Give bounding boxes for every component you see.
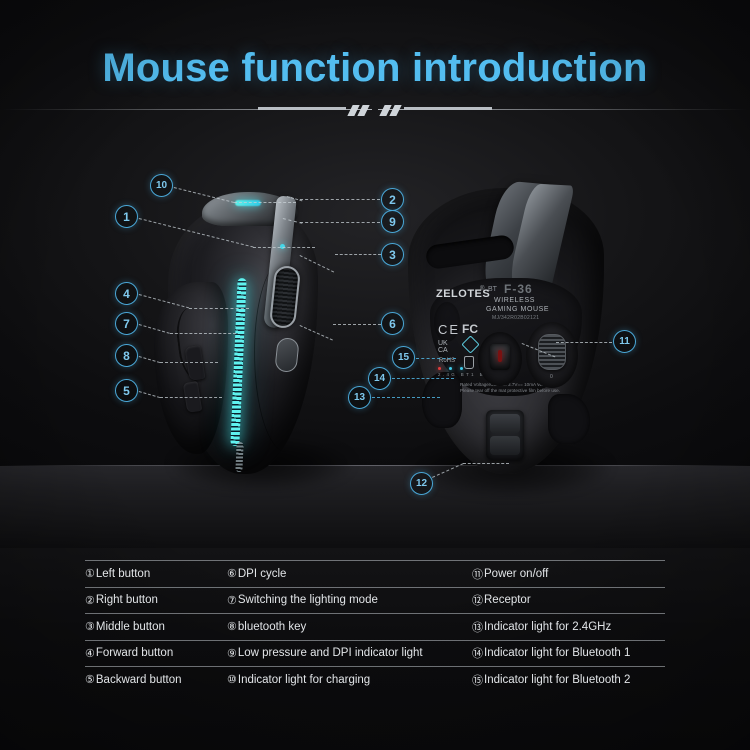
title-divider: [0, 103, 750, 117]
callout-10[interactable]: 10: [150, 174, 173, 197]
legend-num-9: ⑨: [227, 647, 237, 660]
leader-1b: [253, 247, 315, 248]
receptor-lid-lower: [490, 436, 520, 455]
leader-2: [300, 199, 380, 200]
leader-5b: [160, 397, 222, 398]
legend-label-3: Middle button: [96, 621, 165, 633]
callout-13[interactable]: 13: [348, 386, 371, 409]
legend-label-10: Indicator light for charging: [238, 674, 370, 686]
serial-number: MJ/342R02B02121: [492, 315, 539, 321]
weee-mark-icon: [464, 356, 474, 369]
callout-3[interactable]: 3: [381, 243, 404, 266]
legend-num-2: ②: [85, 594, 95, 607]
legend-item-1: ①Left button: [85, 567, 227, 580]
led-24g: [438, 367, 441, 370]
legend-num-14: ⑭: [472, 645, 483, 661]
callout-15[interactable]: 15: [392, 346, 415, 369]
receptor-lid-upper: [490, 414, 520, 433]
legend-item-4: ④Forward button: [85, 647, 227, 660]
legend-label-15: Indicator light for Bluetooth 2: [484, 674, 630, 686]
product-subtitle-line1: WIRELESS: [494, 297, 535, 304]
rgb-light-strip-tail: [235, 442, 243, 472]
legend-num-4: ④: [85, 647, 95, 660]
leader-13: [372, 397, 440, 398]
callout-5[interactable]: 5: [115, 379, 138, 402]
legend-label-6: DPI cycle: [238, 568, 287, 580]
legend-label-9: Low pressure and DPI indicator light: [238, 647, 423, 659]
leader-6: [333, 324, 381, 325]
callout-4[interactable]: 4: [115, 282, 138, 305]
table-row: ③Middle button ⑧bluetooth key ⑬Indicator…: [85, 614, 665, 640]
legend-item-11: ⑪Power on/off: [472, 566, 665, 582]
legend-item-10: ⑩Indicator light for charging: [227, 673, 472, 686]
legend-item-8: ⑧bluetooth key: [227, 620, 472, 633]
legend-label-12: Receptor: [484, 594, 531, 606]
callout-12[interactable]: 12: [410, 472, 433, 495]
legend-item-13: ⑬Indicator light for 2.4GHz: [472, 619, 665, 635]
page-title: Mouse function introduction: [0, 46, 750, 91]
legend-num-8: ⑧: [227, 620, 237, 633]
legend-item-12: ⑫Receptor: [472, 592, 665, 608]
legend-item-6: ⑥DPI cycle: [227, 567, 472, 580]
led-bt2: [460, 367, 463, 370]
leader-3: [335, 254, 381, 255]
fcc-mark-icon: FC: [462, 322, 478, 336]
divider-bar-left: [258, 107, 346, 110]
vertical-mouse-underside-view: ZELOTES ® BT F-36 WIRELESS GAMING MOUSE …: [398, 182, 618, 482]
legend-num-15: ⑮: [472, 672, 483, 688]
model-label: F-36: [504, 282, 533, 296]
leader-9: [300, 222, 380, 223]
divider-slash-2: [357, 105, 369, 116]
callout-9[interactable]: 9: [381, 210, 404, 233]
legend-label-14: Indicator light for Bluetooth 1: [484, 647, 630, 659]
charging-indicator-light: [235, 200, 261, 206]
leader-10b: [234, 202, 296, 203]
legend-label-2: Right button: [96, 594, 158, 606]
legend-label-11: Power on/off: [484, 568, 548, 580]
leader-15: [416, 358, 456, 359]
legend-item-3: ③Middle button: [85, 620, 227, 633]
table-row: ④Forward button ⑨Low pressure and DPI in…: [85, 641, 665, 667]
table-row: ①Left button ⑥DPI cycle ⑪Power on/off: [85, 561, 665, 587]
table-row: ②Right button ⑦Switching the lighting mo…: [85, 588, 665, 614]
legend-label-8: bluetooth key: [238, 621, 306, 633]
product-subtitle-line2: GAMING MOUSE: [486, 306, 549, 313]
legend-item-5: ⑤Backward button: [85, 673, 227, 686]
legend-item-7: ⑦Switching the lighting mode: [227, 594, 472, 607]
legend-item-15: ⑮Indicator light for Bluetooth 2: [472, 672, 665, 688]
callout-11[interactable]: 11: [613, 330, 636, 353]
leader-11: [556, 342, 612, 343]
legend-num-5: ⑤: [85, 673, 95, 686]
table-row: ⑤Backward button ⑩Indicator light for ch…: [85, 667, 665, 693]
sensor-led: [498, 350, 502, 362]
leader-4b: [189, 308, 249, 309]
mouse-foot-right: [548, 394, 590, 444]
divider-slash-4: [389, 105, 401, 116]
legend-label-1: Left button: [96, 568, 150, 580]
bluetooth-mark: BT: [488, 286, 497, 293]
callout-8[interactable]: 8: [115, 344, 138, 367]
legend-label-13: Indicator light for 2.4GHz: [484, 621, 611, 633]
legend-num-13: ⑬: [472, 619, 483, 635]
legend-label-5: Backward button: [96, 674, 182, 686]
leader-8b: [160, 362, 218, 363]
legend-num-3: ③: [85, 620, 95, 633]
legend-item-2: ②Right button: [85, 594, 227, 607]
callout-14[interactable]: 14: [368, 367, 391, 390]
product-surface: [0, 466, 750, 550]
callout-6[interactable]: 6: [381, 312, 404, 335]
legend-item-14: ⑭Indicator light for Bluetooth 1: [472, 645, 665, 661]
legend-label-4: Forward button: [96, 647, 173, 659]
divider-bar-right: [404, 107, 492, 110]
infographic-canvas: Mouse function introduction: [0, 0, 750, 750]
legend-num-11: ⑪: [472, 566, 483, 582]
legend-num-1: ①: [85, 567, 95, 580]
legend-item-9: ⑨Low pressure and DPI indicator light: [227, 647, 472, 660]
ukca-mark-icon: UKCA: [438, 340, 448, 354]
callout-1[interactable]: 1: [115, 205, 138, 228]
leader-7b: [170, 333, 236, 334]
leader-12: [463, 463, 509, 464]
registered-mark: ®: [480, 286, 484, 292]
legend-num-7: ⑦: [227, 594, 237, 607]
legend-num-12: ⑫: [472, 592, 483, 608]
ce-mark-icon: CE: [438, 322, 460, 337]
mouse-foot-left: [422, 372, 462, 428]
legend-label-7: Switching the lighting mode: [238, 594, 378, 606]
power-switch-marking: 0: [550, 374, 553, 380]
legend-num-10: ⑩: [227, 673, 237, 686]
legend-table: ①Left button ⑥DPI cycle ⑪Power on/off ②R…: [85, 560, 665, 693]
led-bt1: [449, 367, 452, 370]
legend-num-6: ⑥: [227, 567, 237, 580]
callout-2[interactable]: 2: [381, 188, 404, 211]
leader-14: [392, 378, 454, 379]
callout-7[interactable]: 7: [115, 312, 138, 335]
horizon-line: [0, 465, 750, 466]
